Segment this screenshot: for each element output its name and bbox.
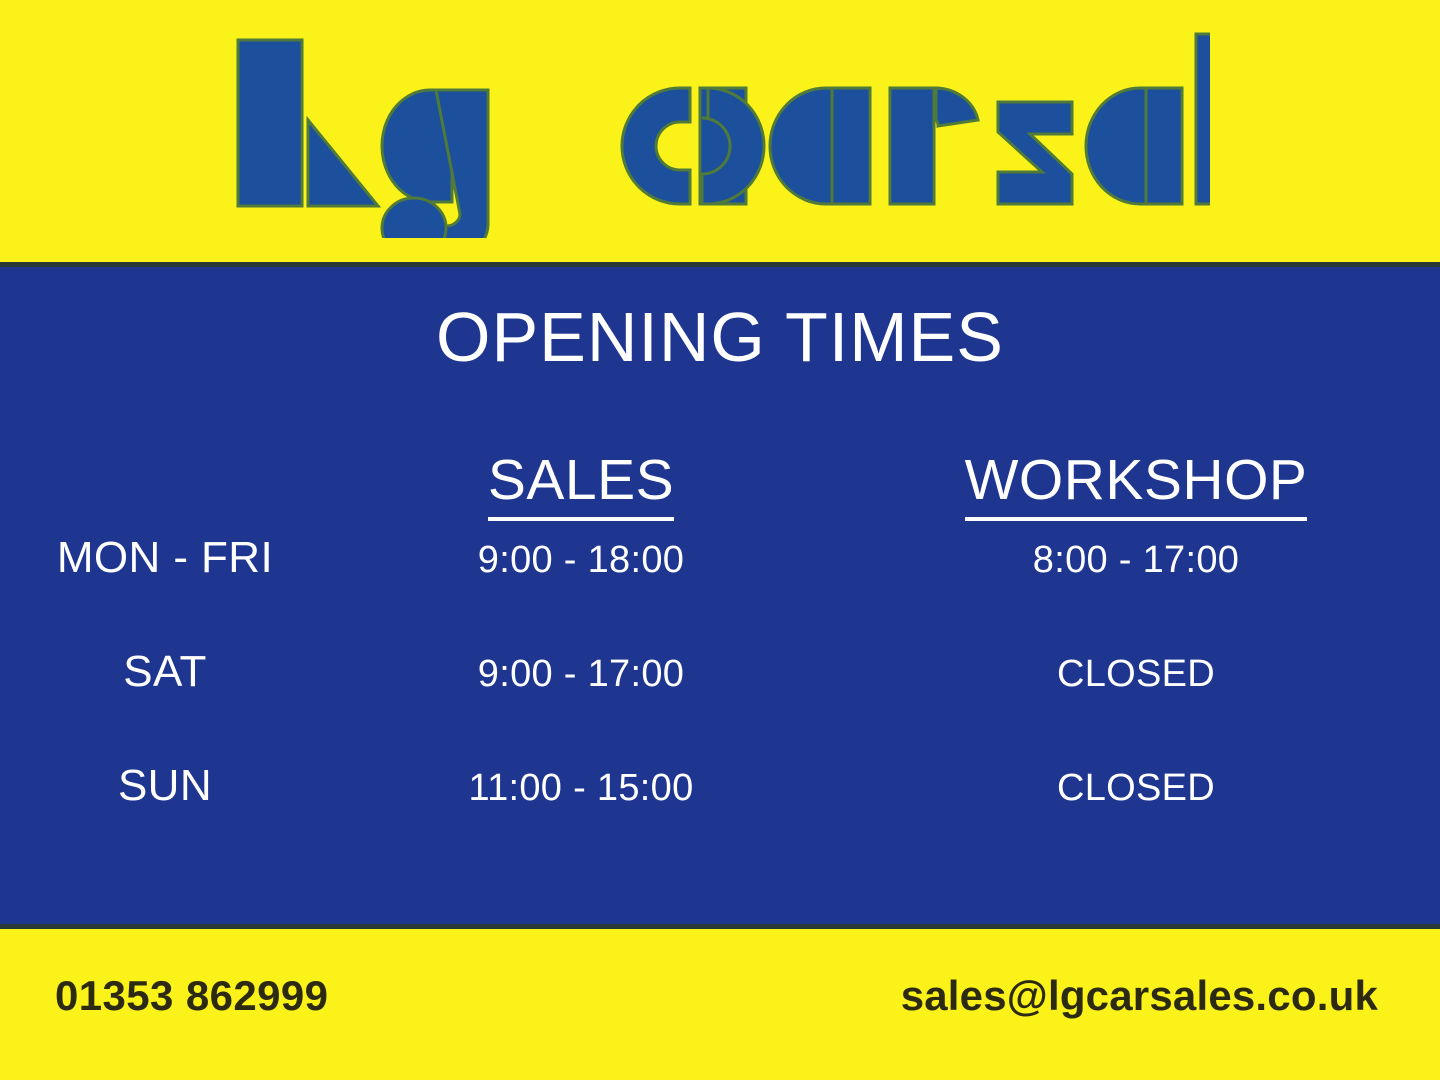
logo-wordmark-icon: .lg-fill { fill: #1c4f9c; stroke: #4f7a3… [230, 28, 1210, 238]
column-header-sales: SALES [488, 452, 674, 521]
day-label: SUN [118, 761, 212, 810]
table-header-row: SALES WORKSHOP [0, 452, 1440, 536]
day-label: SAT [123, 647, 207, 696]
row-sales-cell: 9:00 - 17:00 [330, 655, 832, 693]
column-header-workshop-cell: WORKSHOP [832, 452, 1440, 521]
row-day-cell: SUN [0, 764, 330, 808]
column-header-workshop: WORKSHOP [965, 452, 1308, 521]
phone-number[interactable]: 01353 862999 [55, 975, 328, 1017]
workshop-hours: CLOSED [1057, 767, 1215, 809]
row-sales-cell: 9:00 - 18:00 [330, 541, 832, 579]
opening-times-poster: .lg-fill { fill: #1c4f9c; stroke: #4f7a3… [0, 0, 1440, 1080]
opening-times-panel: OPENING TIMES SALES WORKSHOP MON - FRI 9… [0, 267, 1440, 928]
opening-times-table: SALES WORKSHOP MON - FRI 9:00 - 18:00 8:… [0, 452, 1440, 878]
header-band: .lg-fill { fill: #1c4f9c; stroke: #4f7a3… [0, 0, 1440, 262]
footer-band: 01353 862999 sales@lgcarsales.co.uk [0, 929, 1440, 1080]
logo: .lg-fill { fill: #1c4f9c; stroke: #4f7a3… [0, 0, 1440, 262]
row-sales-cell: 11:00 - 15:00 [330, 769, 832, 807]
row-workshop-cell: CLOSED [832, 655, 1440, 693]
sales-hours: 9:00 - 18:00 [478, 539, 684, 581]
sales-hours: 9:00 - 17:00 [478, 653, 684, 695]
row-workshop-cell: CLOSED [832, 769, 1440, 807]
column-header-sales-cell: SALES [330, 452, 832, 521]
row-workshop-cell: 8:00 - 17:00 [832, 541, 1440, 579]
sales-hours: 11:00 - 15:00 [468, 767, 693, 809]
table-row: SUN 11:00 - 15:00 CLOSED [0, 764, 1440, 878]
email-address[interactable]: sales@lgcarsales.co.uk [901, 975, 1378, 1017]
contact-bar: 01353 862999 sales@lgcarsales.co.uk [0, 929, 1440, 1080]
row-day-cell: SAT [0, 650, 330, 694]
table-row: SAT 9:00 - 17:00 CLOSED [0, 650, 1440, 764]
table-row: MON - FRI 9:00 - 18:00 8:00 - 17:00 [0, 536, 1440, 650]
workshop-hours: CLOSED [1057, 653, 1215, 695]
day-label: MON - FRI [57, 533, 273, 582]
row-day-cell: MON - FRI [0, 536, 330, 580]
page-title: OPENING TIMES [0, 302, 1440, 372]
workshop-hours: 8:00 - 17:00 [1033, 539, 1239, 581]
